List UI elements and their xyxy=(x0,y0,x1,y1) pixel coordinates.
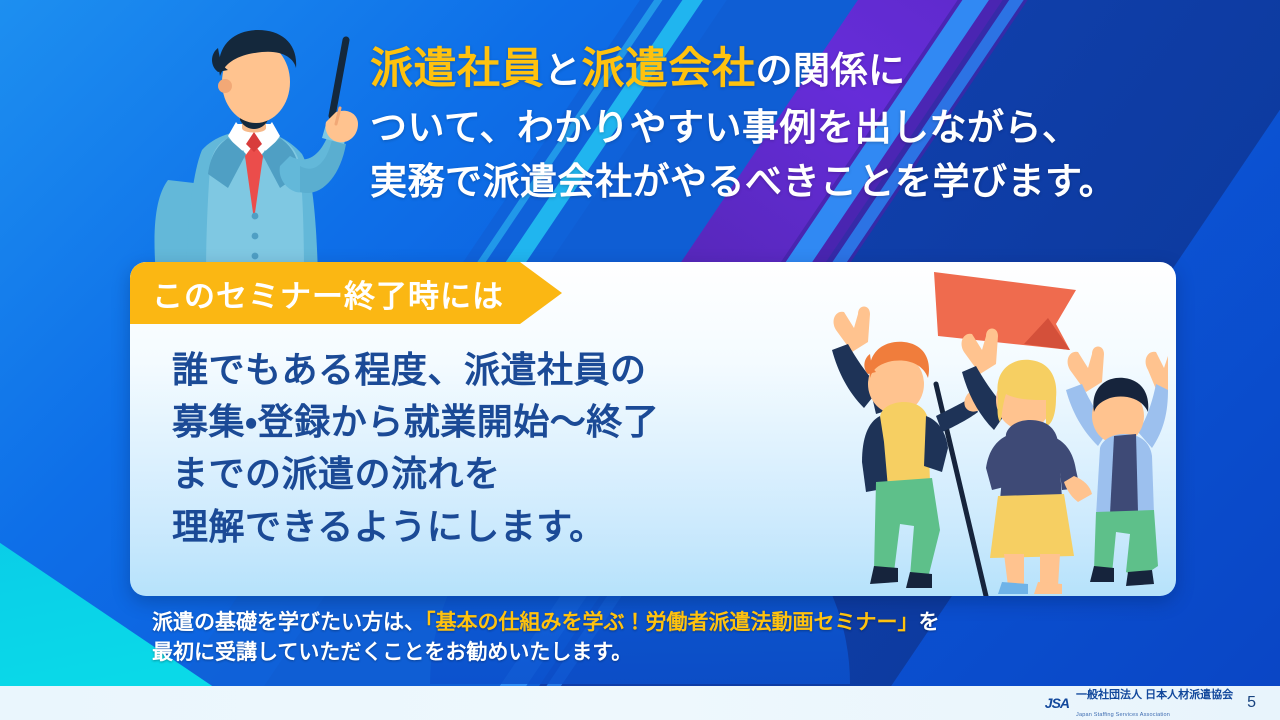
footer-note-prefix: 派遣の基礎を学びたい方は、 xyxy=(152,611,425,634)
page-number: 5 xyxy=(1247,694,1256,712)
headline-particle-to: と xyxy=(544,50,582,91)
headline: 派遣社員と派遣会社の関係に ついて、わかりやすい事例を出しながら、 実務で派遣会… xyxy=(370,38,1200,209)
jsa-logo-text: 一般社団法人 日本人材派遣協会 Japan Staffing Services … xyxy=(1076,685,1233,720)
headline-line-1-tail: の関係に xyxy=(756,50,906,91)
objectives-card: このセミナー終了時には 誰でもある程度、派遣社員の 募集・登録から就業開始〜終了… xyxy=(130,262,1176,596)
headline-accent-haken-shain: 派遣社員 xyxy=(370,45,544,93)
headline-accent-haken-kaisha: 派遣会社 xyxy=(582,45,756,93)
headline-line-2: ついて、わかりやすい事例を出しながら、 xyxy=(370,101,1200,155)
headline-line-1: 派遣社員と派遣会社の関係に xyxy=(370,38,1200,101)
organization-name-en: Japan Staffing Services Association xyxy=(1076,712,1170,718)
card-body-line-1: 誰でもある程度、派遣社員の xyxy=(172,344,862,396)
footer-note-line-1: 派遣の基礎を学びたい方は、「基本の仕組みを学ぶ！労働者派遣法動画セミナー」を xyxy=(152,608,1152,638)
headline-line-3: 実務で派遣会社がやるべきことを学びます。 xyxy=(370,155,1200,209)
footer-note: 派遣の基礎を学びたい方は、「基本の仕組みを学ぶ！労働者派遣法動画セミナー」を 最… xyxy=(152,608,1152,668)
card-ribbon-label: このセミナー終了時には xyxy=(152,271,504,316)
card-body-line-3: までの派遣の流れを xyxy=(172,448,862,500)
footer-note-accent-seminar-title: 「基本の仕組みを学ぶ！労働者派遣法動画セミナー」 xyxy=(425,611,919,634)
slide-canvas: 派遣社員と派遣会社の関係に ついて、わかりやすい事例を出しながら、 実務で派遣会… xyxy=(0,0,1280,720)
slide-footer-bar: JSA 一般社団法人 日本人材派遣協会 Japan Staffing Servi… xyxy=(0,686,1280,720)
organization-name-jp: 一般社団法人 日本人材派遣協会 xyxy=(1076,689,1233,701)
card-body-line-2: 募集・登録から就業開始〜終了 xyxy=(172,396,862,448)
jsa-logo-mark: JSA xyxy=(1045,695,1069,711)
footer-note-line-2: 最初に受講していただくことをお勧めいたします。 xyxy=(152,638,1152,668)
card-ribbon-arrow-tip xyxy=(520,262,562,324)
card-ribbon-body: このセミナー終了時には xyxy=(130,262,520,324)
card-body-text: 誰でもある程度、派遣社員の 募集・登録から就業開始〜終了 までの派遣の流れを 理… xyxy=(172,344,862,553)
card-body-line-4: 理解できるようにします。 xyxy=(172,501,862,553)
card-ribbon: このセミナー終了時には xyxy=(130,262,562,324)
presenter-illustration xyxy=(150,20,390,275)
jsa-logo: JSA 一般社団法人 日本人材派遣協会 Japan Staffing Servi… xyxy=(1045,685,1233,720)
footer-note-suffix: を xyxy=(919,611,940,634)
people-celebrating-illustration xyxy=(818,266,1168,596)
